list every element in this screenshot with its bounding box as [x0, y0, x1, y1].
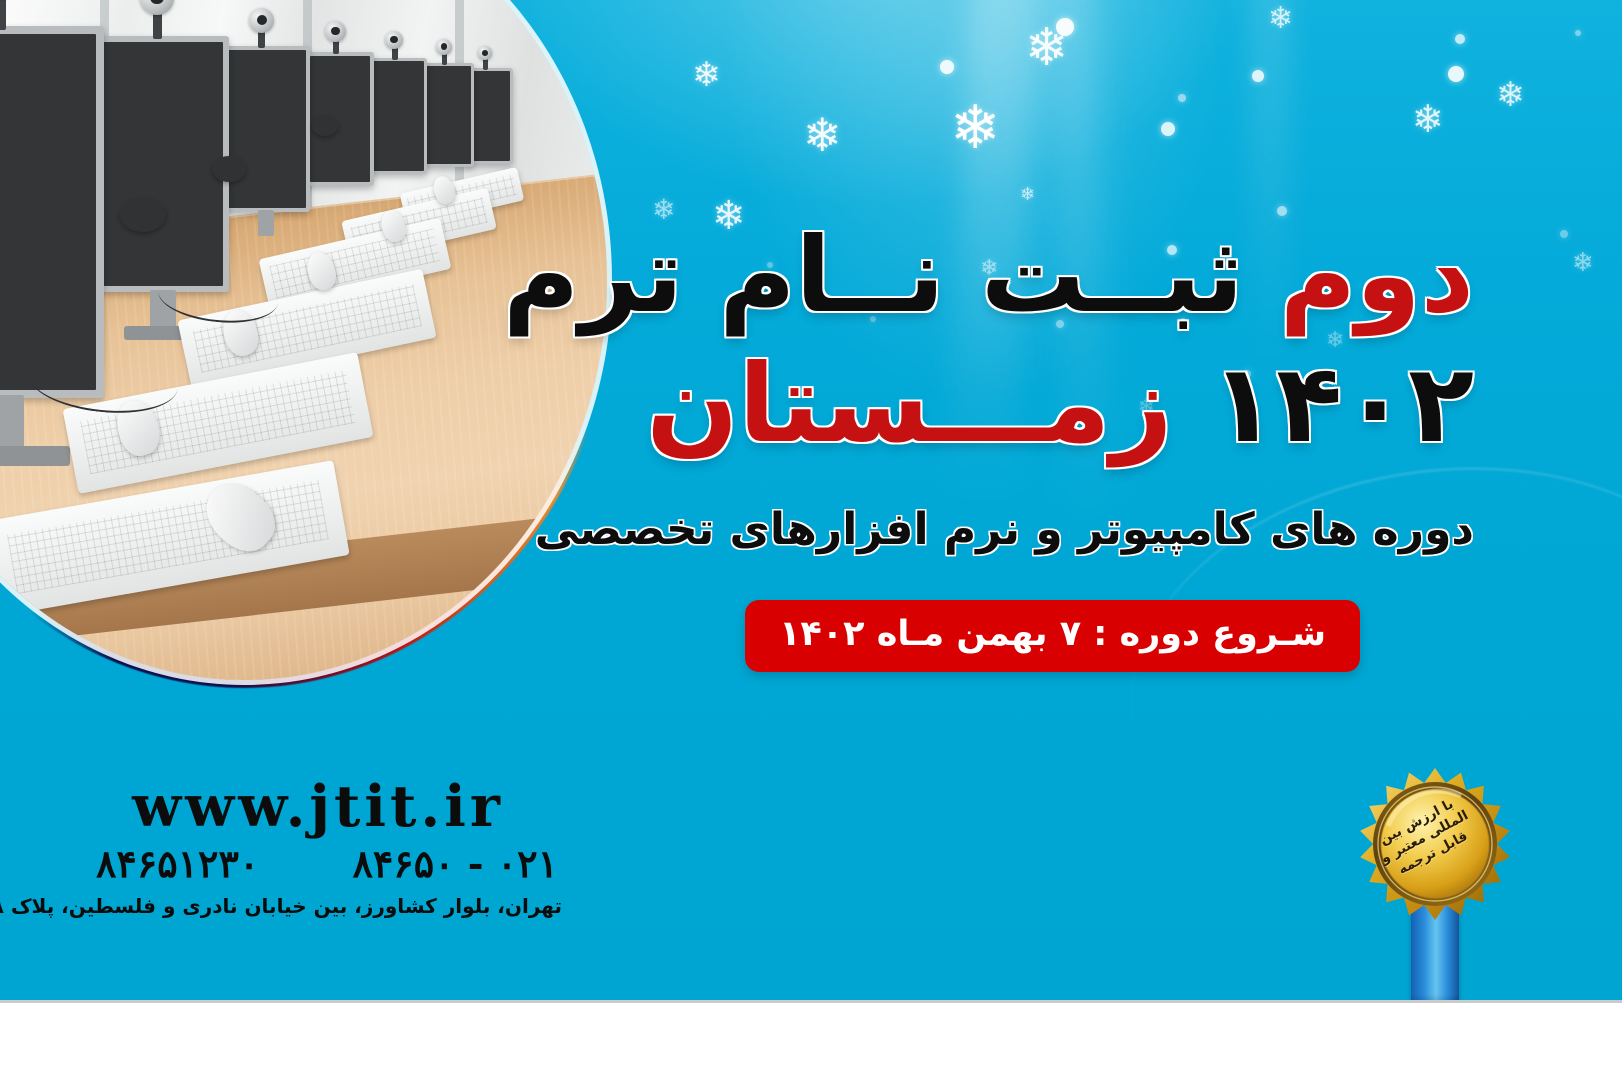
headline-line-2-red: زمـــستان — [646, 342, 1173, 467]
snowflake-icon: ❄ — [692, 58, 721, 92]
phone-primary[interactable]: ۰۲۱ - ۸۴۶۵۰ — [352, 845, 558, 883]
snow-dot — [1056, 18, 1074, 36]
phone-secondary[interactable]: ۸۴۶۵۱۲۳۰ — [96, 845, 259, 883]
headline: دوم ثبــت نــام ترم ۱۴۰۲ زمـــستان — [674, 214, 1474, 468]
snow-dot — [1252, 70, 1264, 82]
certificate-seal: با ارزش بین المللی معتبر و قابل ترجمه — [1345, 758, 1525, 1003]
snowflake-icon: ❄ — [1268, 4, 1293, 34]
snow-dot — [1560, 230, 1568, 238]
snowflake-icon: ❄ — [1412, 100, 1444, 138]
bottom-white-strip — [0, 1006, 1622, 1080]
subtitle: دوره های کامپیوتر و نرم افزارهای تخصصی — [674, 502, 1474, 557]
snowflake-icon: ❄ — [950, 98, 1000, 158]
snowflake-icon: ❄ — [803, 112, 842, 158]
headline-line-1-black: ثبــت نــام ترم — [503, 214, 1244, 336]
seal-medal-icon — [1355, 764, 1515, 924]
snow-dot — [1448, 66, 1464, 82]
headline-line-1: دوم ثبــت نــام ترم — [674, 214, 1474, 337]
snowflake-icon: ❄ — [1572, 250, 1594, 276]
snow-dot — [1455, 34, 1465, 44]
snowflake-icon: ❄ — [1496, 78, 1525, 112]
address-line: تهران، بلوار کشاورز، بین خیابان نادری و … — [92, 894, 562, 918]
snowflake-icon: ❄ — [1025, 22, 1069, 74]
course-start-badge: شـروع دوره : ۷ بهمن مـاه ۱۴۰۲ — [745, 600, 1360, 672]
headline-line-1-red: دوم — [1280, 214, 1474, 336]
contact-block: www.jtit.ir ۰۲۱ - ۸۴۶۵۰ ۸۴۶۵۱۲۳۰ تهران، … — [92, 778, 562, 918]
phone-numbers: ۰۲۱ - ۸۴۶۵۰ ۸۴۶۵۱۲۳۰ — [92, 845, 562, 883]
website-url[interactable]: www.jtit.ir — [92, 778, 562, 835]
snow-dot — [1161, 122, 1175, 136]
headline-line-2: ۱۴۰۲ زمـــستان — [674, 341, 1474, 468]
snowflake-icon: ❄ — [1020, 186, 1035, 204]
snow-dot — [1178, 94, 1186, 102]
computer-lab-photo — [0, 0, 607, 680]
banner-background: ❄❄❄❄❄❄❄❄❄❄❄❄❄❄❄ — [0, 0, 1622, 1003]
promo-banner: ❄❄❄❄❄❄❄❄❄❄❄❄❄❄❄ — [0, 0, 1622, 1080]
headline-line-2-black: ۱۴۰۲ — [1210, 342, 1474, 467]
snow-dot — [1575, 30, 1581, 36]
snow-dot — [940, 60, 954, 74]
